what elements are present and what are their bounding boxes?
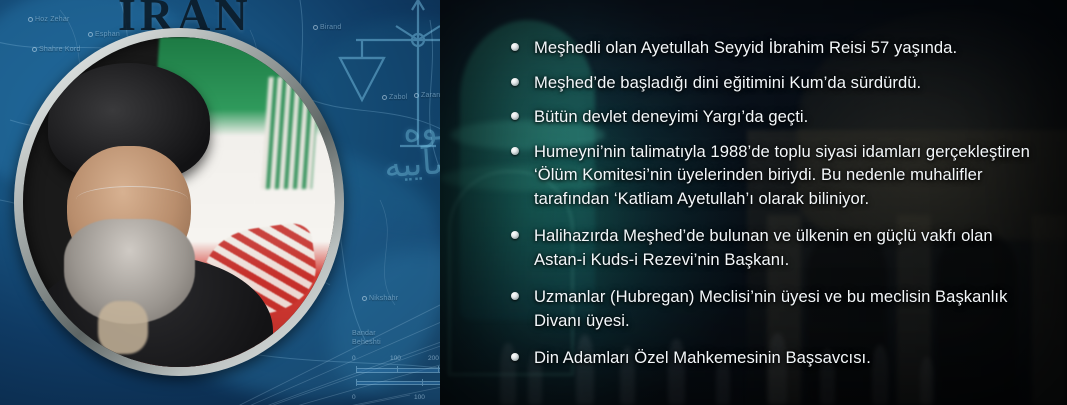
list-item: Din Adamları Özel Mahkemesinin Başsavcıs…: [508, 346, 1053, 370]
flag-kufic-band: [261, 77, 319, 189]
scalebar-mi-0: 0: [352, 394, 356, 401]
list-item: Meşhedli olan Ayetullah Seyyid İbrahim R…: [508, 36, 1053, 60]
list-item: Halihazırda Meşhed’de bulunan ve ülkenin…: [508, 224, 1053, 271]
iran-map-panel: Hoz Zehar Esphan Shahre Kord Birand Zabo…: [0, 0, 500, 405]
scalebar-km-200: 200: [428, 355, 439, 362]
scalebar-km-100: 100: [390, 355, 401, 362]
scalebar-km-0: 0: [352, 355, 356, 362]
list-item: Uzmanlar (Hubregan) Meclisi’nin üyesi ve…: [508, 285, 1053, 332]
map-city-label: Shahre Kord: [32, 46, 81, 53]
scalebar-mi-100: 100: [414, 394, 425, 401]
portrait-eyeglasses: [76, 186, 188, 213]
list-item: Humeyni’nin talimatıyla 1988’de toplu si…: [508, 140, 1053, 211]
infographic-canvas: Hoz Zehar Esphan Shahre Kord Birand Zabo…: [0, 0, 1067, 405]
list-item: Bütün devlet deneyimi Yargı’da geçti.: [508, 105, 1053, 129]
map-city-label: Hoz Zehar: [28, 16, 69, 23]
list-item: Meşhed’de başladığı dini eğitimini Kum’d…: [508, 71, 1053, 95]
portrait-collar: [98, 301, 148, 354]
map-city-label: Esphan: [88, 31, 120, 38]
fact-list: Meşhedli olan Ayetullah Seyyid İbrahim R…: [508, 36, 1053, 381]
portrait-photo: [23, 37, 335, 367]
portrait-frame: [14, 28, 344, 376]
